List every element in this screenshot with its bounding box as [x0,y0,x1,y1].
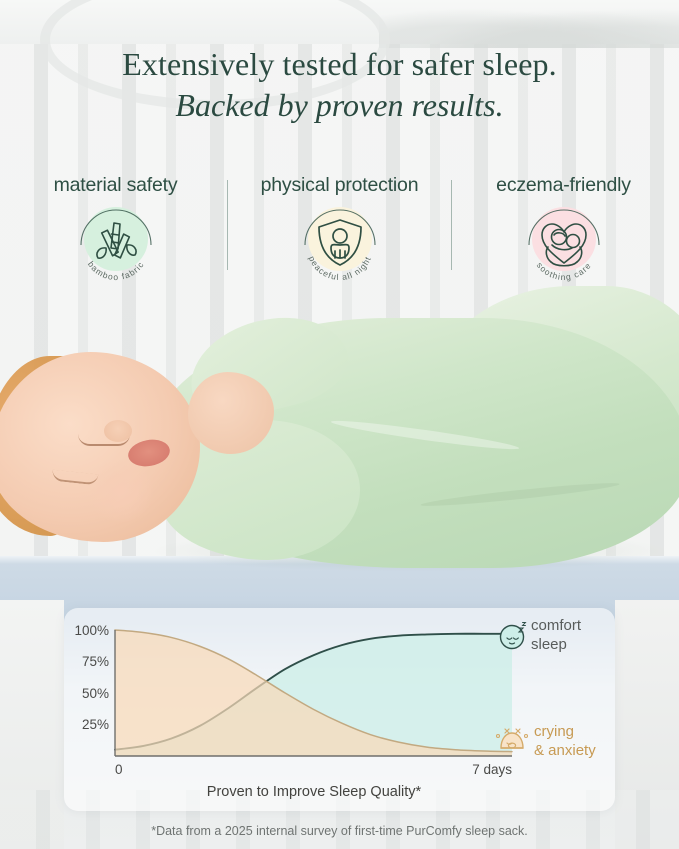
badge-divider [451,180,452,270]
y-tick-50: 50% [82,686,109,701]
x-tick-start: 0 [115,762,123,777]
baby-cheek [86,460,156,522]
shield-baby-icon: peaceful all night [297,201,383,287]
legend-comfort-line-2: sleep [531,636,567,653]
legend-crying-line-1: crying [534,723,574,740]
y-tick-100: 100% [74,623,109,638]
badge-label: material safety [54,174,178,197]
legend-comfort-sleep: comfort sleep [501,617,582,653]
feature-badge-physical-protection: physical protection peaceful all night [230,174,449,287]
heart-hands-baby-icon: soothing care [521,201,607,287]
crib-carving-detail [379,0,679,48]
chart-title: Proven to Improve Sleep Quality* [207,784,422,800]
badge-seal-bamboo: bamboo fabric [73,201,159,287]
sleep-quality-chart: 100% 75% 50% 25% 0 7 days Proven to Impr… [64,608,615,811]
baby-hand [188,372,274,454]
sleeping-baby-face-icon [501,623,526,649]
badge-divider [227,180,228,270]
x-tick-end: 7 days [472,762,512,777]
y-tick-75: 75% [82,654,109,669]
badge-label: eczema-friendly [496,174,631,197]
badge-seal-peaceful: peaceful all night [297,201,383,287]
baby-nose [104,420,132,442]
y-tick-25: 25% [82,717,109,732]
seal-caption: bamboo fabric [85,259,145,282]
footnote: *Data from a 2025 internal survey of fir… [0,824,679,838]
legend-crying-line-2: & anxiety [534,742,596,759]
feature-badge-row: material safety [0,174,679,289]
headline: Extensively tested for safer sleep. Back… [0,44,679,126]
bamboo-icon: bamboo fabric [73,201,159,287]
legend-comfort-line-1: comfort [531,617,582,634]
promo-graphic: Extensively tested for safer sleep. Back… [0,0,679,849]
headline-line-1: Extensively tested for safer sleep. [0,44,679,84]
badge-seal-soothing: soothing care [521,201,607,287]
badge-label: physical protection [261,174,419,197]
svg-text:bamboo fabric: bamboo fabric [85,259,145,282]
feature-badge-eczema-friendly: eczema-friendly [454,174,673,287]
headline-line-2: Backed by proven results. [0,84,679,126]
feature-badge-material-safety: material safety [6,174,225,287]
